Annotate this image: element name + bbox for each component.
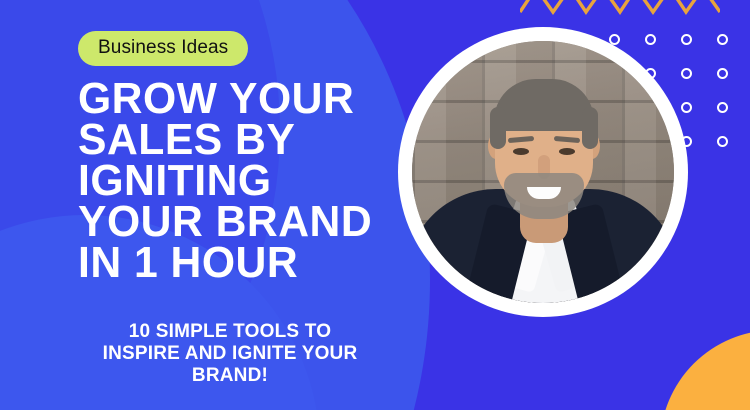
headline-line-4: your brand (78, 201, 388, 242)
subtitle-line-2: Inspire and Ignite your (60, 343, 400, 365)
dot-icon (717, 68, 728, 79)
dot-icon (717, 34, 728, 45)
portrait-image (412, 41, 674, 303)
dot-icon (717, 136, 728, 147)
subtitle-line-1: 10 Simple Tools to (60, 321, 400, 343)
category-badge-label: Business Ideas (98, 37, 228, 58)
subtitle: 10 Simple Tools to Inspire and Ignite yo… (60, 321, 400, 387)
hair-side-right (582, 107, 598, 149)
category-badge: Business Ideas (78, 31, 248, 66)
dot-icon (717, 102, 728, 113)
poster-canvas: Business Ideas Grow your sales by igniti… (0, 0, 750, 410)
subtitle-line-3: Brand! (60, 365, 400, 387)
headline-line-2: sales by (78, 119, 388, 160)
portrait-photo-frame (398, 27, 688, 317)
zigzag-icon (520, 0, 720, 26)
eye-left (513, 148, 529, 155)
hair-side-left (490, 107, 506, 149)
headline-line-5: in 1 hour (78, 242, 388, 283)
headline: Grow your sales by igniting your brand i… (78, 78, 388, 283)
eye-right (559, 148, 575, 155)
headline-line-1: Grow your (78, 78, 388, 119)
headline-line-3: igniting (78, 160, 388, 201)
